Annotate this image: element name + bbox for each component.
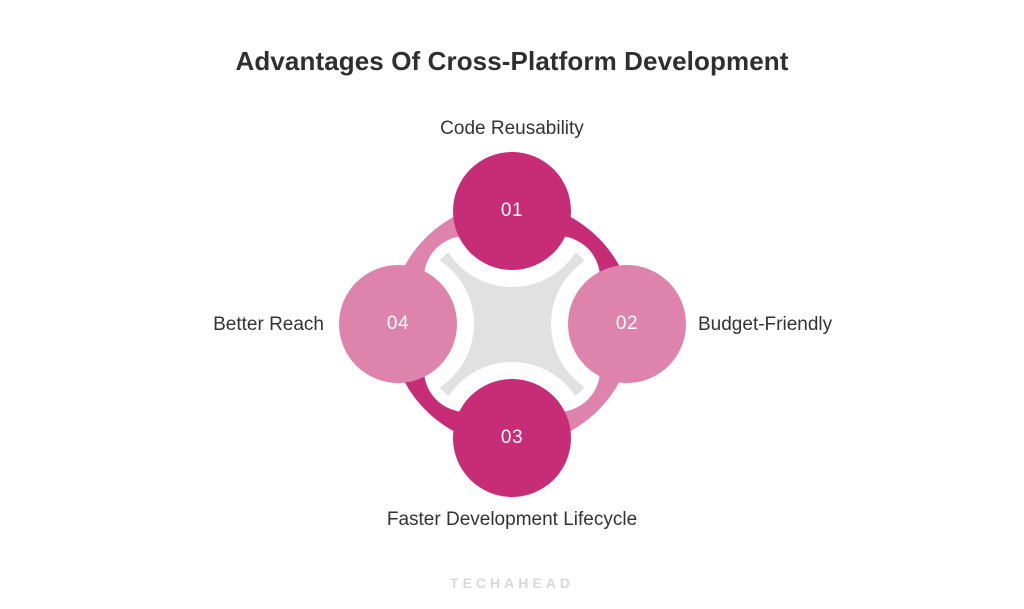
infographic-root: Advantages Of Cross-Platform Development (0, 0, 1024, 609)
node-label-code-reusability: Code Reusability (0, 118, 1024, 140)
brand-watermark: TECHAHEAD (0, 575, 1024, 591)
node-circle-04[interactable] (339, 265, 457, 383)
cycle-diagram: 01 02 03 04 Code Reusability Budget-Frie… (0, 0, 1024, 609)
node-circle-03[interactable] (453, 379, 571, 497)
node-label-faster-development-lifecycle: Faster Development Lifecycle (0, 509, 1024, 531)
node-label-better-reach: Better Reach (213, 314, 324, 336)
node-label-budget-friendly: Budget-Friendly (698, 314, 832, 336)
node-circle-02[interactable] (568, 265, 686, 383)
node-circle-01[interactable] (453, 152, 571, 270)
